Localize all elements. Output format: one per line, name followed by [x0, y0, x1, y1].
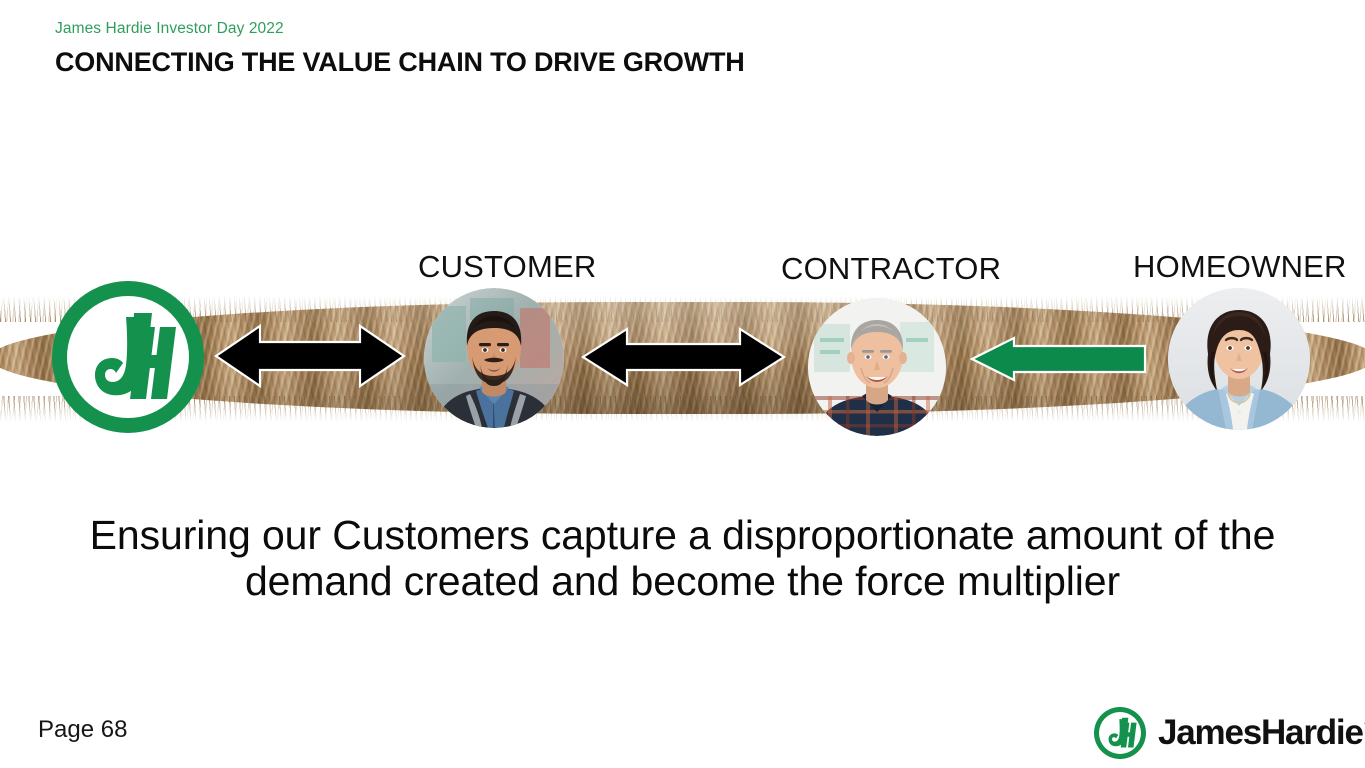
- slide-header: James Hardie Investor Day 2022 CONNECTIN…: [55, 20, 1255, 77]
- eyebrow-text: James Hardie Investor Day 2022: [55, 20, 1255, 39]
- footer-jh-inner-disc: [1099, 712, 1141, 754]
- portrait-customer: [424, 288, 564, 428]
- footer-logo-wordmark: JamesHardie™: [1158, 713, 1365, 753]
- statement-text: Ensuring our Customers capture a disprop…: [60, 512, 1305, 605]
- node-label-customer: CUSTOMER: [418, 249, 596, 285]
- connector-arrow-jh-to-customer: [216, 324, 404, 388]
- jh-logo-inner-disc: [67, 296, 189, 418]
- portrait-contractor: [808, 298, 946, 436]
- footer-james-hardie-logo: JamesHardie™: [1094, 706, 1365, 760]
- james-hardie-logo-icon: [52, 281, 204, 433]
- footer-logo-wordmark-text: JamesHardie: [1158, 713, 1363, 752]
- connector-arrow-homeowner-to-contractor: [972, 337, 1145, 381]
- portrait-homeowner: [1168, 288, 1310, 430]
- page-title: CONNECTING THE VALUE CHAIN TO DRIVE GROW…: [55, 47, 1255, 77]
- footer-jh-logo-icon: [1094, 707, 1146, 759]
- jh-monogram-icon: [67, 296, 189, 418]
- node-label-homeowner: HOMEOWNER: [1133, 249, 1347, 285]
- connector-arrow-customer-to-contractor: [583, 327, 784, 387]
- node-label-contractor: CONTRACTOR: [781, 251, 1001, 287]
- page-number: Page 68: [38, 716, 127, 744]
